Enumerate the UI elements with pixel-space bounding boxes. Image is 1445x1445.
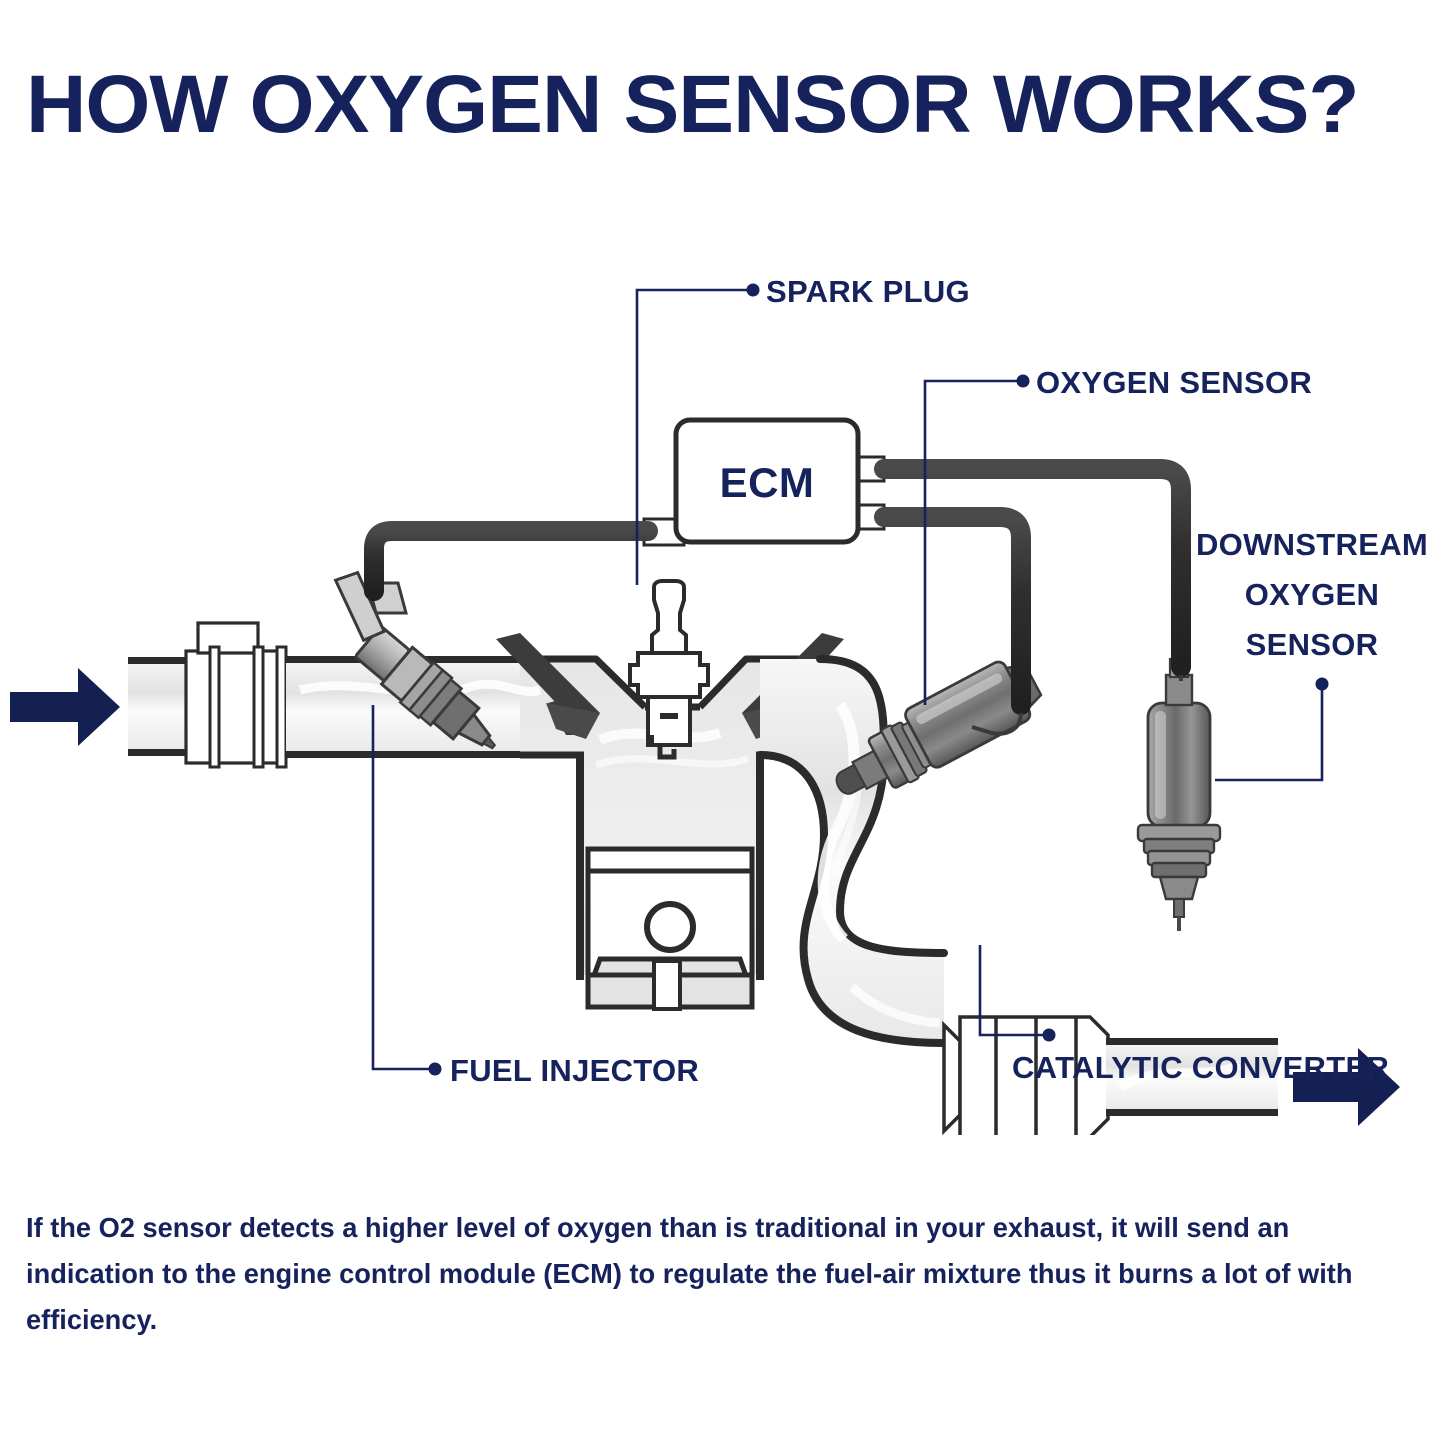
dot-fuel-injector xyxy=(429,1063,442,1076)
dot-catalytic-converter xyxy=(1043,1029,1056,1042)
cable-ecm-to-injector xyxy=(374,531,648,591)
label-catalytic-converter: CATALYTIC CONVERTER xyxy=(1012,1050,1389,1085)
label-downstream-line1: DOWNSTREAM xyxy=(1196,527,1428,562)
oxygen-sensor-downstream xyxy=(1138,659,1220,931)
diagram-canvas: ECM xyxy=(0,235,1445,1135)
explanatory-paragraph: If the O2 sensor detects a higher level … xyxy=(26,1205,1402,1343)
dot-spark-plug xyxy=(747,284,760,297)
piston xyxy=(588,849,752,1009)
leader-oxygen-sensor xyxy=(925,381,1020,705)
leader-downstream-sensor xyxy=(1215,687,1322,780)
label-fuel-injector: FUEL INJECTOR xyxy=(450,1053,699,1088)
air-intake-assembly xyxy=(10,623,286,767)
ecm-module: ECM xyxy=(644,420,884,545)
ecm-label: ECM xyxy=(720,459,815,506)
air-intake-arrow xyxy=(10,668,120,746)
cable-ecm-to-downstream-sensor xyxy=(884,469,1181,667)
page-root: HOW OXYGEN SENSOR WORKS? xyxy=(0,0,1445,1445)
label-oxygen-sensor: OXYGEN SENSOR xyxy=(1036,365,1312,400)
page-title: HOW OXYGEN SENSOR WORKS? xyxy=(26,58,1358,152)
label-spark-plug: SPARK PLUG xyxy=(766,274,970,309)
dot-oxygen-sensor xyxy=(1017,375,1030,388)
label-downstream-line3: SENSOR xyxy=(1246,627,1379,662)
dot-downstream-sensor xyxy=(1316,678,1329,691)
label-downstream-line2: OXYGEN xyxy=(1245,577,1379,612)
leader-fuel-injector xyxy=(373,705,432,1069)
engine-cutaway xyxy=(286,565,844,1009)
